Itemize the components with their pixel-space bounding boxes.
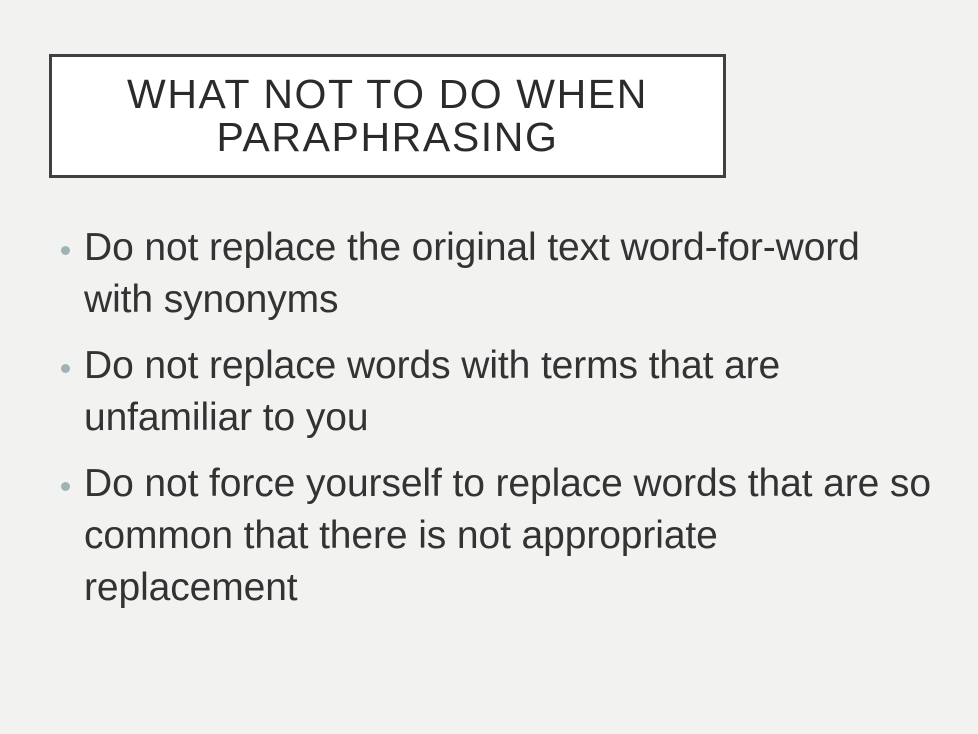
page-title: WHAT NOT TO DO WHEN PARAPHRASING (52, 73, 723, 160)
bullet-dot-icon (61, 246, 70, 255)
list-item-text: Do not replace the original text word-fo… (84, 222, 936, 326)
bullet-list: Do not replace the original text word-fo… (56, 222, 936, 614)
title-box[interactable]: WHAT NOT TO DO WHEN PARAPHRASING (49, 54, 726, 178)
list-item[interactable]: Do not force yourself to replace words t… (56, 458, 936, 614)
slide-canvas: WHAT NOT TO DO WHEN PARAPHRASING Do not … (0, 0, 978, 734)
bullet-dot-icon (61, 482, 70, 491)
list-item-text: Do not replace words with terms that are… (84, 340, 936, 444)
bullet-dot-icon (61, 364, 70, 373)
list-item[interactable]: Do not replace the original text word-fo… (56, 222, 936, 326)
list-item[interactable]: Do not replace words with terms that are… (56, 340, 936, 444)
list-item-text: Do not force yourself to replace words t… (84, 458, 936, 614)
